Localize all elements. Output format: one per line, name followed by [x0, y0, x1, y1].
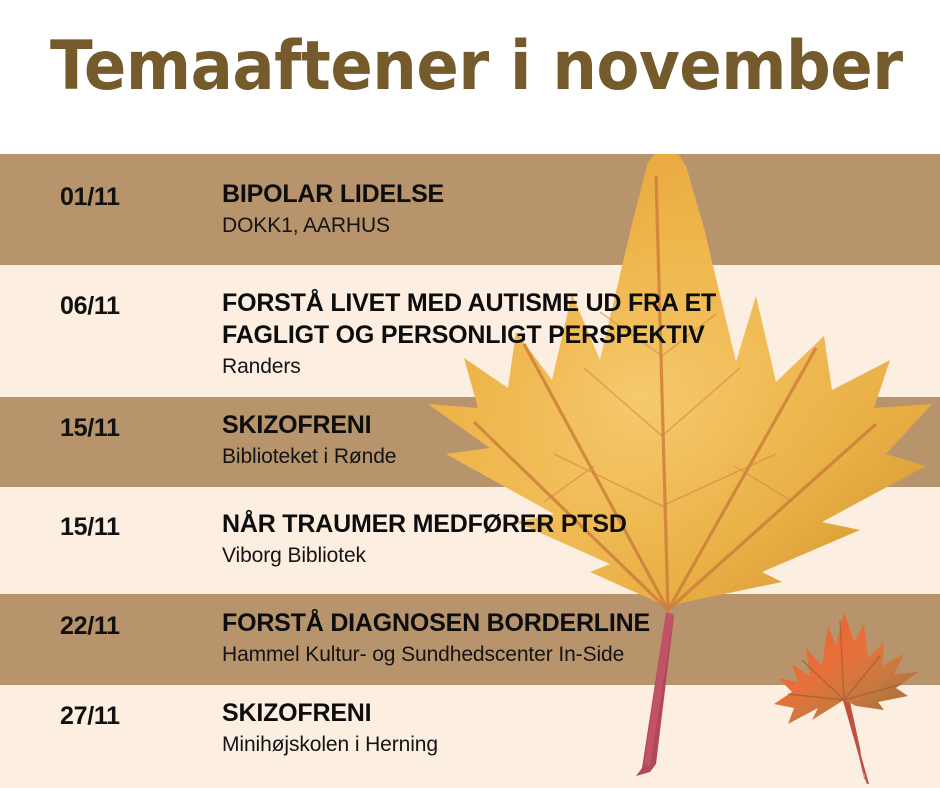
event-body: SKIZOFRENI Minihøjskolen i Herning — [222, 697, 922, 759]
poster-header: Temaaftener i november — [0, 0, 940, 154]
event-date: 06/11 — [60, 291, 210, 321]
event-title: SKIZOFRENI — [222, 697, 922, 729]
event-row[interactable]: 15/11 SKIZOFRENI Biblioteket i Rønde — [0, 397, 940, 487]
event-body: SKIZOFRENI Biblioteket i Rønde — [222, 409, 922, 471]
event-title: FORSTÅ LIVET MED AUTISME UD FRA ET FAGLI… — [222, 287, 922, 351]
event-body: FORSTÅ DIAGNOSEN BORDERLINE Hammel Kultu… — [222, 607, 922, 669]
event-body: FORSTÅ LIVET MED AUTISME UD FRA ET FAGLI… — [222, 287, 922, 381]
event-date: 15/11 — [60, 512, 210, 542]
event-title: NÅR TRAUMER MEDFØRER PTSD — [222, 508, 922, 540]
page-title: Temaaftener i november — [50, 26, 841, 108]
poster-canvas: Temaaftener i november 01/11 BIPOLAR LID… — [0, 0, 940, 788]
event-row[interactable]: 01/11 BIPOLAR LIDELSE DOKK1, AARHUS — [0, 154, 940, 265]
event-title: BIPOLAR LIDELSE — [222, 178, 922, 210]
event-venue: Biblioteket i Rønde — [222, 443, 922, 471]
event-row[interactable]: 22/11 FORSTÅ DIAGNOSEN BORDERLINE Hammel… — [0, 594, 940, 685]
event-venue: Randers — [222, 353, 922, 381]
event-row[interactable]: 06/11 FORSTÅ LIVET MED AUTISME UD FRA ET… — [0, 265, 940, 397]
event-venue: Viborg Bibliotek — [222, 542, 922, 570]
event-venue: Minihøjskolen i Herning — [222, 731, 922, 759]
event-title: FORSTÅ DIAGNOSEN BORDERLINE — [222, 607, 922, 639]
event-row[interactable]: 15/11 NÅR TRAUMER MEDFØRER PTSD Viborg B… — [0, 487, 940, 594]
event-date: 15/11 — [60, 413, 210, 443]
event-venue: Hammel Kultur- og Sundhedscenter In-Side — [222, 641, 922, 669]
event-body: NÅR TRAUMER MEDFØRER PTSD Viborg Bibliot… — [222, 508, 922, 570]
event-date: 01/11 — [60, 182, 210, 212]
event-body: BIPOLAR LIDELSE DOKK1, AARHUS — [222, 178, 922, 240]
event-row[interactable]: 27/11 SKIZOFRENI Minihøjskolen i Herning — [0, 685, 940, 788]
event-date: 22/11 — [60, 611, 210, 641]
event-title: SKIZOFRENI — [222, 409, 922, 441]
event-venue: DOKK1, AARHUS — [222, 212, 922, 240]
event-date: 27/11 — [60, 701, 210, 731]
